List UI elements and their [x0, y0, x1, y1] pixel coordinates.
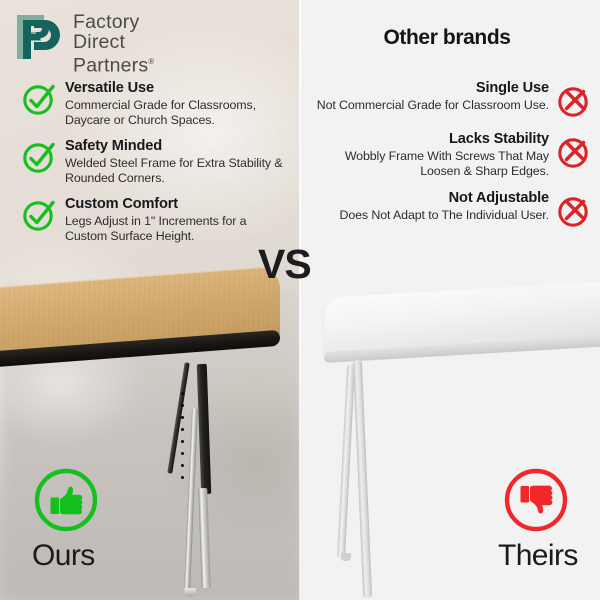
feature-item: Versatile Use Commercial Grade for Class… — [0, 80, 300, 127]
registered-mark: ® — [148, 57, 154, 66]
other-brands-heading: Other brands — [300, 26, 600, 50]
feature-description: Welded Steel Frame for Extra Stability &… — [65, 156, 288, 185]
check-circle-icon — [22, 140, 56, 174]
table-leg-chrome-front — [198, 488, 210, 588]
table-leg-brace — [167, 362, 189, 473]
ours-verdict: Ours — [33, 467, 99, 573]
versus-label: VS — [258, 240, 311, 288]
feature-item: Safety Minded Welded Steel Frame for Ext… — [0, 138, 300, 185]
check-circle-icon — [22, 198, 56, 232]
feature-item: Lacks Stability Wobbly Frame With Screws… — [300, 131, 600, 178]
feature-description: Does Not Adapt to The Individual User. — [340, 208, 550, 223]
table-leg-chrome-rear — [184, 408, 198, 593]
comparison-infographic: Factory Direct Partners® Other brands Ve… — [0, 0, 600, 600]
feature-description: Not Commercial Grade for Classroom Use. — [317, 98, 549, 113]
table-leg-upper-black — [197, 364, 212, 494]
table-leg-foot — [184, 588, 196, 598]
ours-feature-list: Versatile Use Commercial Grade for Class… — [0, 80, 300, 255]
plastic-leg-rear — [337, 364, 355, 559]
plastic-leg-foot — [341, 553, 351, 562]
feature-item: Single Use Not Commercial Grade for Clas… — [300, 80, 600, 119]
feature-description: Commercial Grade for Classrooms, Daycare… — [65, 98, 288, 127]
theirs-verdict: Theirs — [494, 467, 578, 573]
feature-title: Versatile Use — [65, 80, 288, 97]
fdp-monogram-icon — [14, 12, 62, 62]
plastic-leg-front — [353, 360, 372, 598]
thumbs-up-circle-icon — [33, 467, 99, 533]
brand-line-3-text: Partners — [73, 55, 148, 77]
brand-line-3: Partners® — [73, 52, 154, 76]
x-circle-icon — [556, 193, 592, 229]
feature-description: Wobbly Frame With Screws That May Loosen… — [308, 149, 549, 178]
other-brands-feature-list: Single Use Not Commercial Grade for Clas… — [300, 80, 600, 241]
feature-title: Single Use — [317, 80, 549, 97]
check-circle-icon — [22, 82, 56, 116]
thumbs-down-circle-icon — [503, 467, 569, 533]
feature-title: Custom Comfort — [65, 196, 288, 213]
theirs-verdict-label: Theirs — [498, 539, 578, 573]
feature-item: Custom Comfort Legs Adjust in 1" Increme… — [0, 196, 300, 243]
height-adjustment-holes — [180, 392, 185, 488]
brand-wordmark: Factory Direct Partners® — [73, 13, 154, 76]
brand-line-2: Direct — [73, 33, 154, 53]
x-circle-icon — [556, 83, 592, 119]
ours-verdict-label: Ours — [32, 539, 95, 573]
feature-description: Legs Adjust in 1" Increments for a Custo… — [65, 214, 288, 243]
feature-title: Not Adjustable — [340, 190, 550, 207]
brand-logo[interactable]: Factory Direct Partners® — [14, 12, 154, 76]
feature-item: Not Adjustable Does Not Adapt to The Ind… — [300, 190, 600, 229]
feature-title: Safety Minded — [65, 138, 288, 155]
feature-title: Lacks Stability — [308, 131, 549, 148]
brand-line-1: Factory — [73, 13, 154, 33]
x-circle-icon — [556, 134, 592, 170]
